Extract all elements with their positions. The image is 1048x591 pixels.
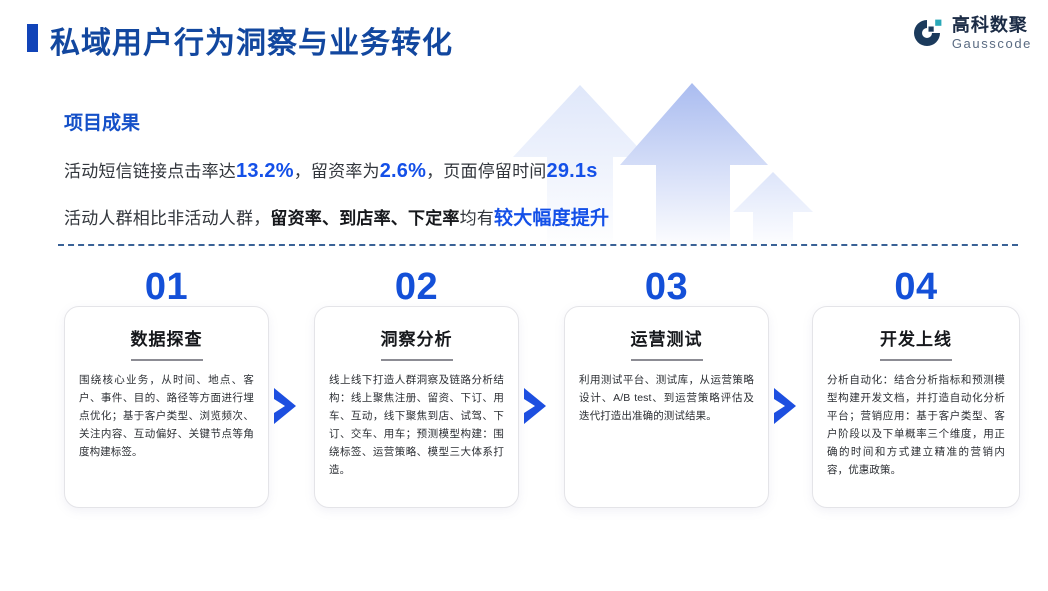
section-divider [58, 244, 1018, 246]
step-card-01[interactable]: 01 数据探查 围绕核心业务，从时间、地点、客户、事件、目的、路径等方面进行埋点… [64, 268, 269, 518]
step-number-03: 03 [564, 268, 769, 306]
step-text-01: 围绕核心业务，从时间、地点、客户、事件、目的、路径等方面进行埋点优化；基于客户类… [79, 371, 254, 461]
logo-text-block: 高科数聚 Gausscode [952, 16, 1032, 50]
step-title-01: 数据探查 [79, 325, 254, 350]
step-card-body-04[interactable]: 开发上线 分析自动化：结合分析指标和预测模型构建开发文档，并打造自动化分析平台；… [812, 306, 1020, 508]
step-card-04[interactable]: 04 开发上线 分析自动化：结合分析指标和预测模型构建开发文档，并打造自动化分析… [812, 268, 1020, 518]
step-text-02: 线上线下打造人群洞察及链路分析结构：线上聚焦注册、留资、下订、用车、互动，线下聚… [329, 371, 504, 479]
gausscode-logo-icon [910, 16, 944, 50]
step-card-body-03[interactable]: 运营测试 利用测试平台、测试库，从运营策略设计、A/B test、到运营策略评估… [564, 306, 769, 508]
step-rule-04 [880, 359, 952, 361]
project-results-section: 项目成果 活动短信链接点击率达13.2%，留资率为2.6%，页面停留时间29.1… [64, 108, 744, 250]
step-card-body-01[interactable]: 数据探查 围绕核心业务，从时间、地点、客户、事件、目的、路径等方面进行埋点优化；… [64, 306, 269, 508]
step-rule-02 [381, 359, 453, 361]
chevron-right-icon-3 [772, 386, 798, 426]
result-2-text-1: 活动人群相比非活动人群， [64, 209, 270, 228]
chevron-right-icon-2 [522, 386, 548, 426]
step-number-01: 01 [64, 268, 269, 306]
step-card-02[interactable]: 02 洞察分析 线上线下打造人群洞察及链路分析结构：线上聚焦注册、留资、下订、用… [314, 268, 519, 518]
result-1-value-1: 13.2% [236, 160, 294, 182]
logo-name-en: Gausscode [952, 37, 1032, 50]
process-steps: 01 数据探查 围绕核心业务，从时间、地点、客户、事件、目的、路径等方面进行埋点… [0, 268, 1048, 518]
result-line-1: 活动短信链接点击率达13.2%，留资率为2.6%，页面停留时间29.1s [64, 157, 744, 183]
result-1-value-2: 2.6% [380, 160, 426, 182]
step-title-03: 运营测试 [579, 325, 754, 350]
logo-name-cn: 高科数聚 [952, 16, 1032, 34]
step-card-body-02[interactable]: 洞察分析 线上线下打造人群洞察及链路分析结构：线上聚焦注册、留资、下订、用车、互… [314, 306, 519, 508]
result-2-bold-1: 留资率、到店率、下定率 [270, 209, 459, 228]
results-heading: 项目成果 [64, 108, 744, 135]
slide-root: 私域用户行为洞察与业务转化 高科数聚 Gausscode 项目成果 活动短信链接… [0, 0, 1048, 591]
result-1-text-3: ，页面停留时间 [426, 162, 546, 181]
result-line-2: 活动人群相比非活动人群，留资率、到店率、下定率均有较大幅度提升 [64, 203, 744, 230]
step-title-04: 开发上线 [827, 325, 1005, 350]
result-2-text-2: 均有 [460, 209, 494, 228]
result-2-value-1: 较大幅度提升 [494, 208, 609, 229]
result-1-text-1: 活动短信链接点击率达 [64, 162, 236, 181]
result-1-value-3: 29.1s [547, 160, 598, 182]
decorative-arrow-right [733, 172, 815, 250]
page-title: 私域用户行为洞察与业务转化 [50, 18, 453, 62]
result-1-text-2: ，留资率为 [294, 162, 380, 181]
step-text-04: 分析自动化：结合分析指标和预测模型构建开发文档，并打造自动化分析平台；营销应用：… [827, 371, 1005, 479]
chevron-right-icon-1 [272, 386, 298, 426]
step-text-03: 利用测试平台、测试库，从运营策略设计、A/B test、到运营策略评估及迭代打造… [579, 371, 754, 425]
step-rule-03 [631, 359, 703, 361]
header: 私域用户行为洞察与业务转化 高科数聚 Gausscode [0, 0, 1048, 78]
brand-logo: 高科数聚 Gausscode [910, 16, 1032, 50]
step-rule-01 [131, 359, 203, 361]
step-number-04: 04 [812, 268, 1020, 306]
title-accent-bar [27, 24, 38, 52]
step-number-02: 02 [314, 268, 519, 306]
step-card-03[interactable]: 03 运营测试 利用测试平台、测试库，从运营策略设计、A/B test、到运营策… [564, 268, 769, 518]
step-title-02: 洞察分析 [329, 325, 504, 350]
